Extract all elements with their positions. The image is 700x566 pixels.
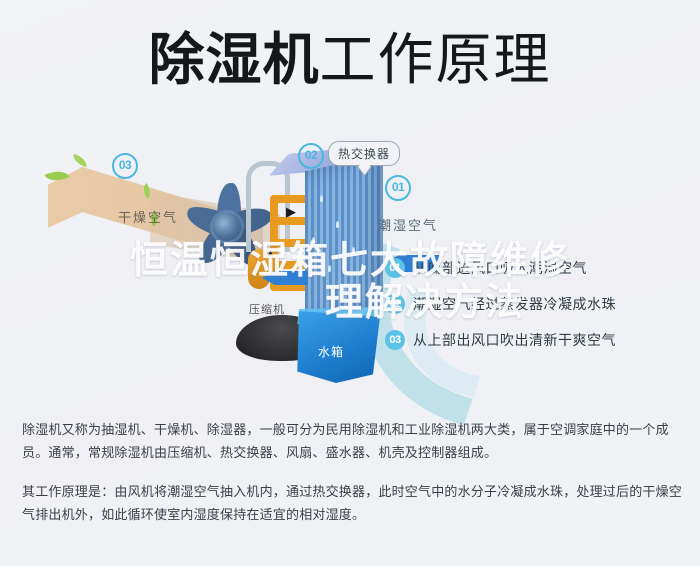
body-copy: 除湿机又称为抽湿机、干燥机、除湿器，一般可分为民用除湿机和工业除湿机两大类，属于… <box>22 418 682 526</box>
step-text: 从上部出风口吹出清新干爽空气 <box>413 330 616 350</box>
flow-arrow-up-icon: ▲ <box>264 247 277 260</box>
step-text: 从底部进风口吸入潮湿空气 <box>413 258 587 278</box>
diagram-badge-03: 03 <box>112 153 138 179</box>
heat-exchanger-fins-icon <box>305 155 383 322</box>
water-droplet-icon <box>312 237 315 244</box>
water-tank-label: 水箱 <box>318 343 344 360</box>
compressor-label: 压缩机 <box>249 301 285 317</box>
heat-exchanger-callout: 热交换器 <box>328 141 400 166</box>
dry-air-label: 干燥空气 <box>118 207 178 226</box>
leaf-icon <box>71 154 89 168</box>
infographic-page: 除湿机工作原理 ▶ ▲ <box>0 0 700 566</box>
step-list: 01 从底部进风口吸入潮湿空气 02 潮湿空气经过蒸发器冷凝成水珠 03 从上部… <box>385 252 685 360</box>
list-item: 03 从上部出风口吹出清新干爽空气 <box>385 324 685 355</box>
flow-arrow-right-icon: ▶ <box>286 205 296 218</box>
water-droplet-icon <box>328 265 331 272</box>
list-item: 02 潮湿空气经过蒸发器冷凝成水珠 <box>385 288 685 319</box>
step-number-badge: 02 <box>385 294 405 314</box>
diagram-badge-01: 01 <box>385 175 411 201</box>
step-number-badge: 03 <box>385 330 405 350</box>
list-item: 01 从底部进风口吸入潮湿空气 <box>385 252 685 283</box>
diagram-badge-02: 02 <box>298 143 324 169</box>
humid-air-label: 潮湿空气 <box>378 215 438 234</box>
page-title: 除湿机工作原理 <box>0 24 700 104</box>
step-number-badge: 01 <box>385 258 405 278</box>
paragraph-definition: 除湿机又称为抽湿机、干燥机、除湿器，一般可分为民用除湿机和工业除湿机两大类，属于… <box>22 418 682 464</box>
water-droplet-icon <box>336 221 339 228</box>
title-bold-part: 除湿机 <box>149 28 320 91</box>
water-droplet-icon <box>320 195 323 202</box>
title-text: 除湿机工作原理 <box>149 24 552 96</box>
step-text: 潮湿空气经过蒸发器冷凝成水珠 <box>413 294 616 314</box>
fan-hub-icon <box>213 213 241 241</box>
water-droplet-icon <box>352 247 355 254</box>
paragraph-principle: 其工作原理是：由风机将潮湿空气抽入机内，通过热交换器，此时空气中的水分子冷凝成水… <box>22 480 682 526</box>
title-light-part: 工作原理 <box>320 28 552 91</box>
